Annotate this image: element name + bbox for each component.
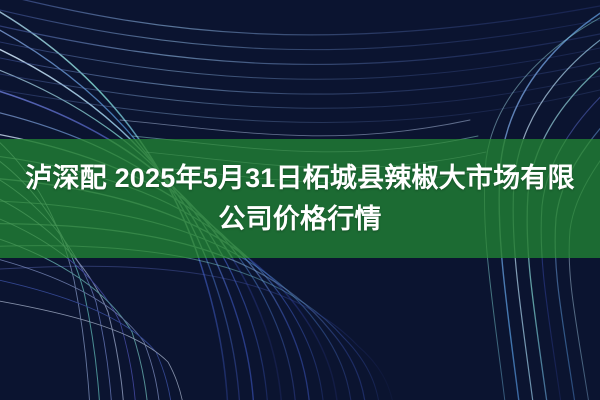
banner: 泸深配 2025年5月31日柘城县辣椒大市场有限 公司价格行情 (0, 0, 600, 400)
banner-title-line-1: 泸深配 2025年5月31日柘城县辣椒大市场有限 (25, 158, 574, 199)
banner-title-line-2: 公司价格行情 (218, 199, 381, 240)
banner-title: 泸深配 2025年5月31日柘城县辣椒大市场有限 公司价格行情 (0, 139, 600, 258)
